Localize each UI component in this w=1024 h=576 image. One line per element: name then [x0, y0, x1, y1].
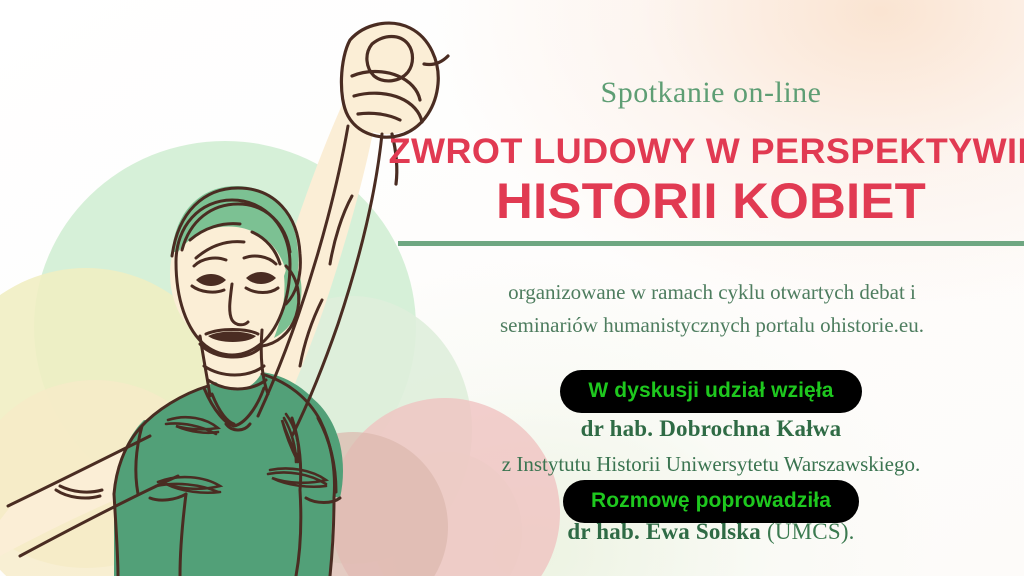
poster-canvas: Spotkanie on-line ZWROT LUDOWY W PERSPEK…: [0, 0, 1024, 576]
host-badge: Rozmowę poprowadziła: [563, 480, 859, 523]
participant-affiliation: z Instytutu Historii Uniwersytetu Warsza…: [398, 452, 1024, 477]
event-kicker: Spotkanie on-line: [398, 76, 1024, 110]
headline-line-1: ZWROT LUDOWY W PERSPEKTYWIE: [389, 132, 1024, 172]
host-affiliation: (UMCS).: [761, 519, 855, 544]
host-name-line: dr hab. Ewa Solska (UMCS).: [398, 519, 1024, 545]
host-name: dr hab. Ewa Solska: [567, 519, 761, 544]
intro-paragraph: organizowane w ramach cyklu otwartych de…: [412, 276, 1012, 342]
participant-badge: W dyskusji udział wzięła: [560, 370, 861, 413]
divider-rule: [398, 241, 1024, 246]
participant-badge-row: W dyskusji udział wzięła: [398, 370, 1024, 413]
intro-line-2: seminariów humanistycznych portalu ohist…: [412, 309, 1012, 342]
text-content-column: Spotkanie on-line ZWROT LUDOWY W PERSPEK…: [398, 0, 1024, 576]
intro-line-1: organizowane w ramach cyklu otwartych de…: [412, 276, 1012, 309]
host-badge-row: Rozmowę poprowadziła: [398, 480, 1024, 523]
participant-name: dr hab. Dobrochna Kałwa: [398, 416, 1024, 442]
headline-line-2: HISTORII KOBIET: [392, 172, 1024, 230]
